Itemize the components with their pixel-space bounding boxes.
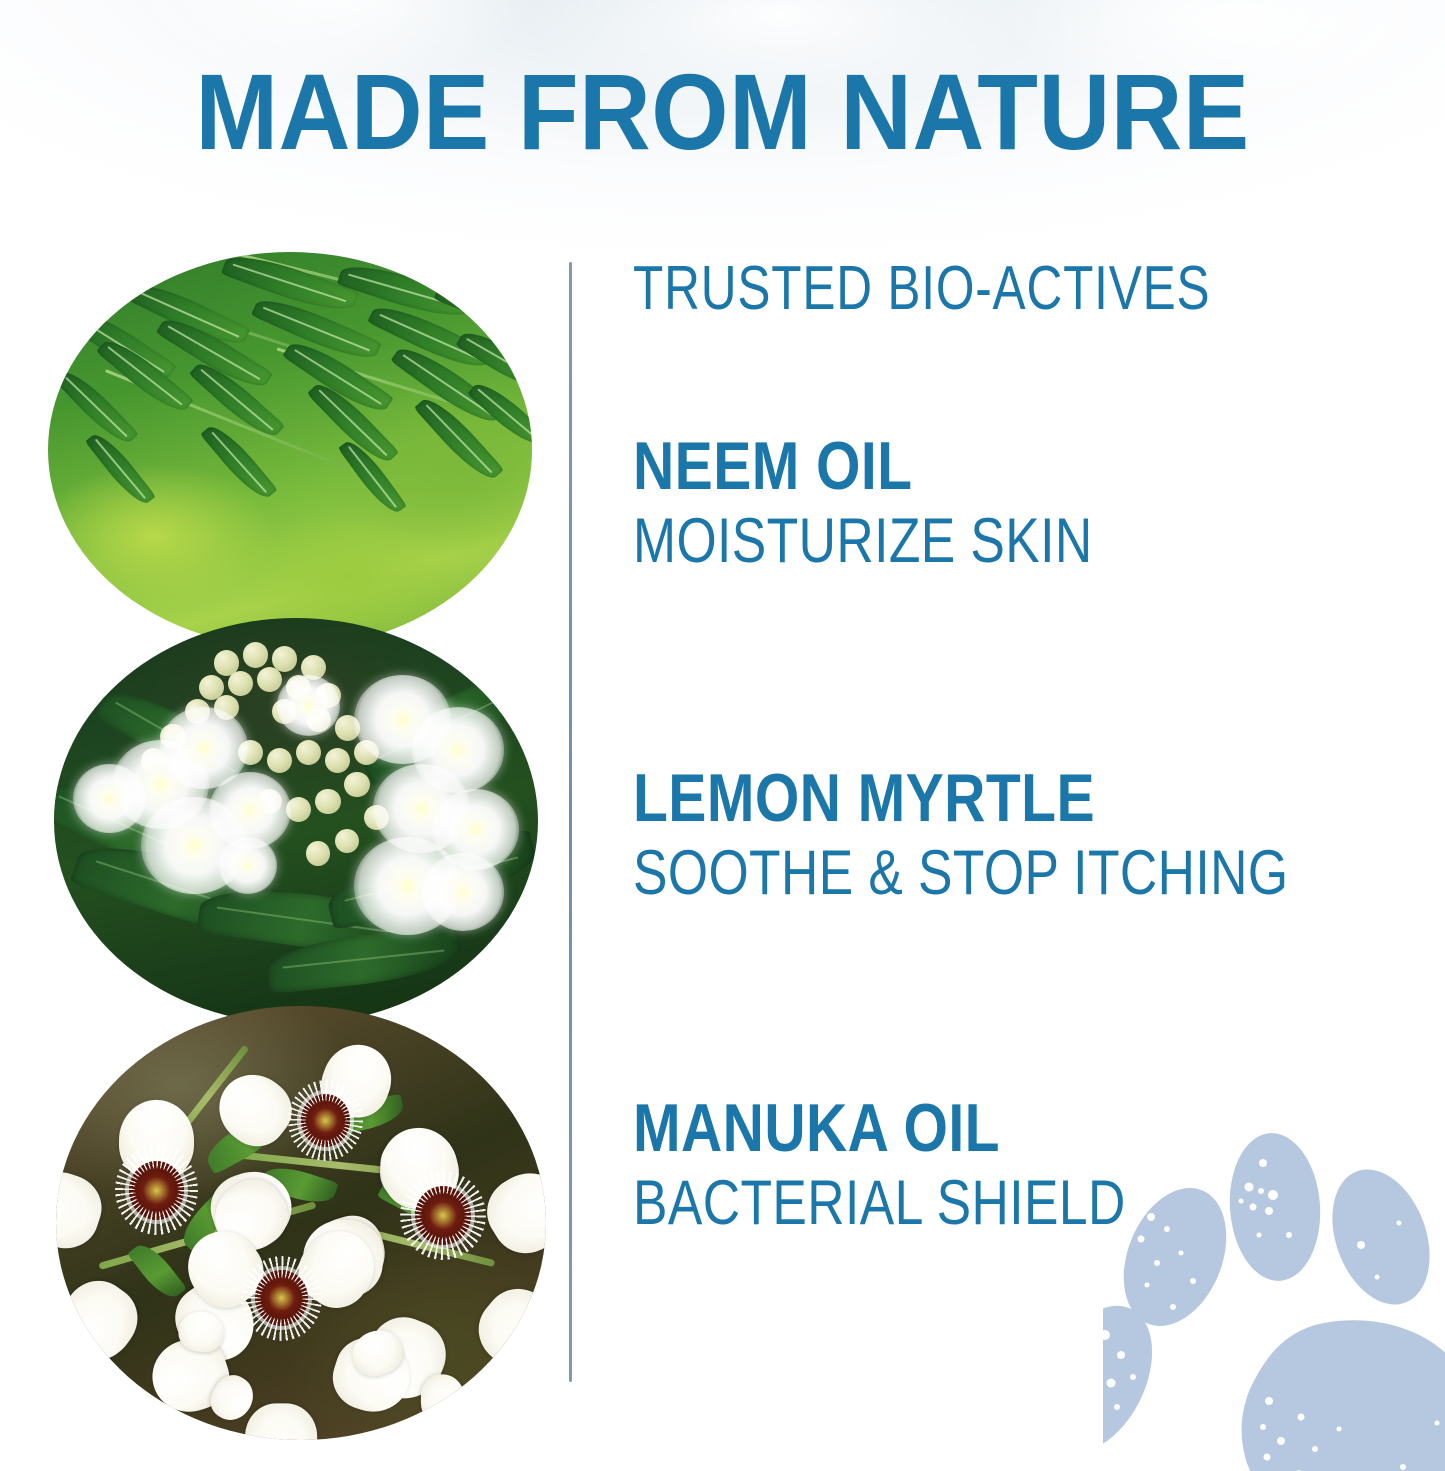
ingredient-image-neem — [48, 252, 532, 648]
manuka-petal-fragment — [144, 1310, 242, 1397]
manuka-petal-fragment — [340, 1327, 448, 1422]
ingredient-benefit-manuka: BACTERIAL SHIELD — [633, 1170, 1126, 1236]
ingredient-block-lemon-myrtle: LEMON MYRTLE SOOTHE & STOP ITCHING — [633, 764, 1432, 906]
vertical-divider — [569, 262, 572, 1382]
ingredient-name-neem: NEEM OIL — [633, 432, 1104, 500]
ingredient-benefit-lemon-myrtle: SOOTHE & STOP ITCHING — [633, 840, 1288, 906]
ingredient-block-neem: NEEM OIL MOISTURIZE SKIN — [633, 432, 1194, 574]
eyebrow-label: TRUSTED BIO-ACTIVES — [633, 253, 1210, 324]
ingredient-name-manuka: MANUKA OIL — [633, 1094, 1138, 1162]
ingredient-block-manuka: MANUKA OIL BACTERIAL SHIELD — [633, 1094, 1234, 1236]
infographic-canvas: MADE FROM NATURE — [0, 0, 1445, 1445]
ingredient-benefit-neem: MOISTURIZE SKIN — [633, 508, 1093, 574]
ingredient-image-lemon-myrtle — [54, 618, 538, 1024]
manuka-flower — [360, 1128, 527, 1302]
page-title: MADE FROM NATURE — [58, 58, 1387, 166]
ingredient-name-lemon-myrtle: LEMON MYRTLE — [633, 764, 1304, 832]
ingredient-image-manuka — [56, 1006, 546, 1440]
